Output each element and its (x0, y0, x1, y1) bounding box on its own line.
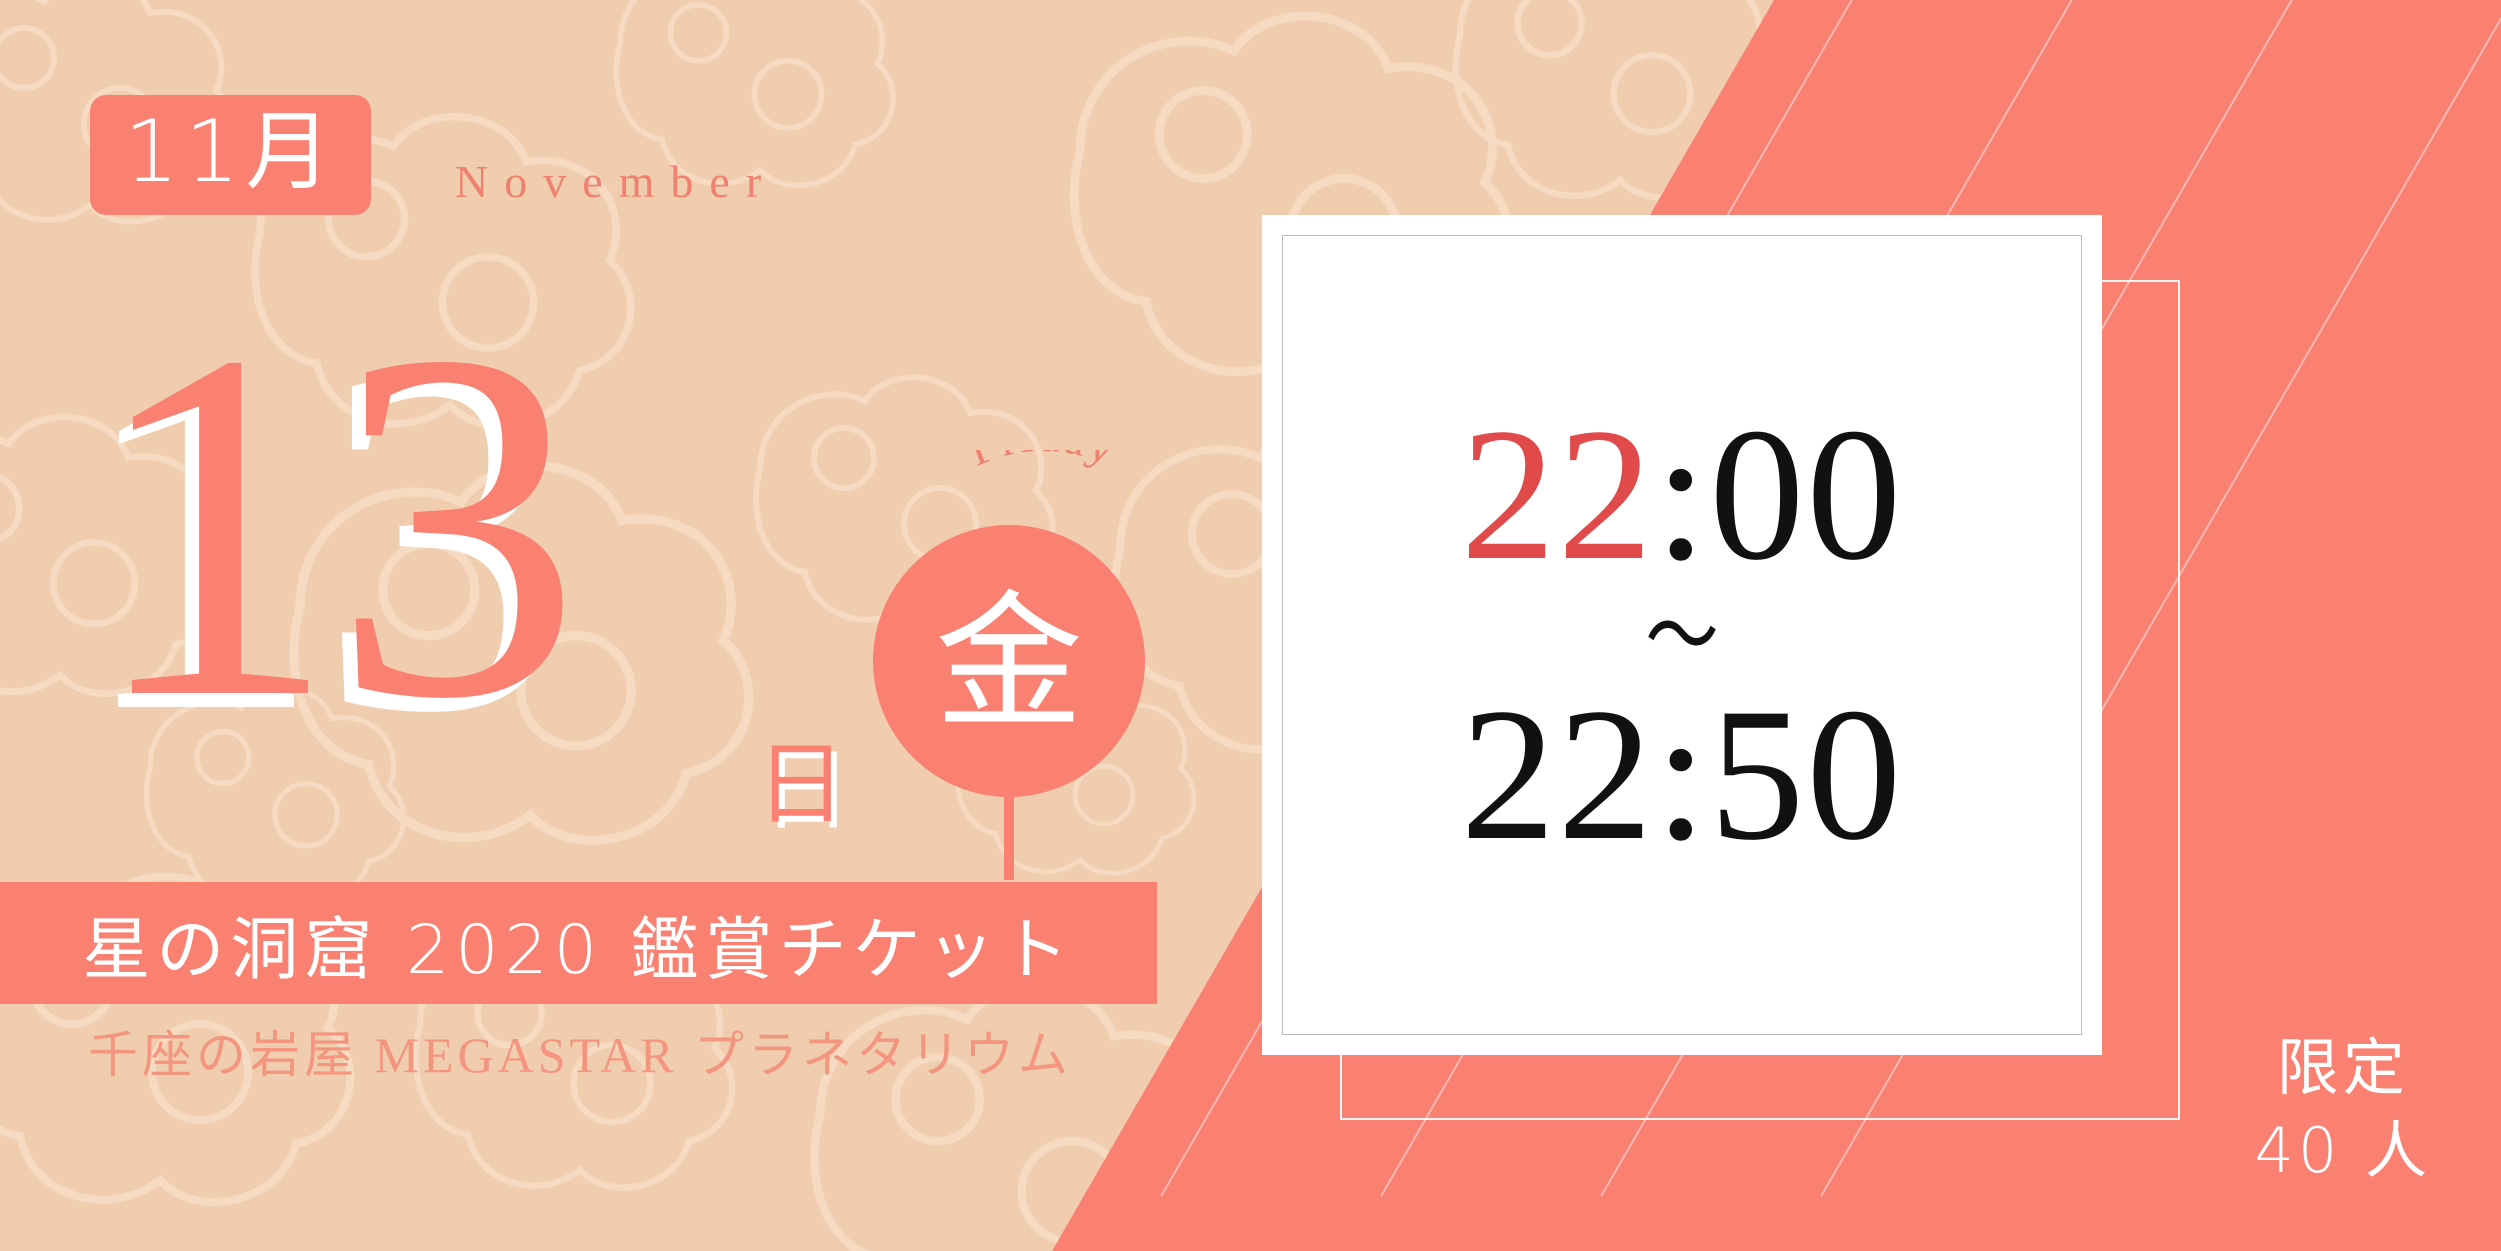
start-hour: 22 (1461, 390, 1655, 600)
title-text: 星の洞窟 2020 鑑賞チケット (82, 894, 1074, 993)
capacity-value: 40 人 (2254, 1109, 2431, 1193)
time-card: 22:00 〜 22:50 (1262, 215, 2102, 1055)
time-range-separator: 〜 (1645, 591, 1719, 683)
time-card-inner: 22:00 〜 22:50 (1282, 235, 2082, 1035)
day-number: 13 (88, 275, 576, 775)
ticket-poster: 11月 November 13 日 金 Friday 星の洞窟 2020 鑑賞チ… (0, 0, 2501, 1251)
capacity-block: 限定 40 人 (2254, 1026, 2431, 1193)
start-minutes: :00 (1655, 390, 1904, 600)
subtitle-text: 千座の岩屋 MEGASTAR プラネタリウム (0, 1015, 1160, 1087)
capacity-label: 限定 (2254, 1026, 2431, 1110)
month-english-label: November (455, 155, 777, 208)
title-band: 星の洞窟 2020 鑑賞チケット (0, 882, 1157, 1004)
weekday-kanji: 金 (935, 589, 1083, 737)
month-badge: 11月 (90, 95, 371, 215)
day-unit-kanji: 日 (756, 740, 846, 830)
end-time: 22:50 (1461, 685, 1904, 866)
start-time-row: 22:00 (1461, 405, 1904, 586)
weekday-badge: 金 (873, 525, 1145, 797)
